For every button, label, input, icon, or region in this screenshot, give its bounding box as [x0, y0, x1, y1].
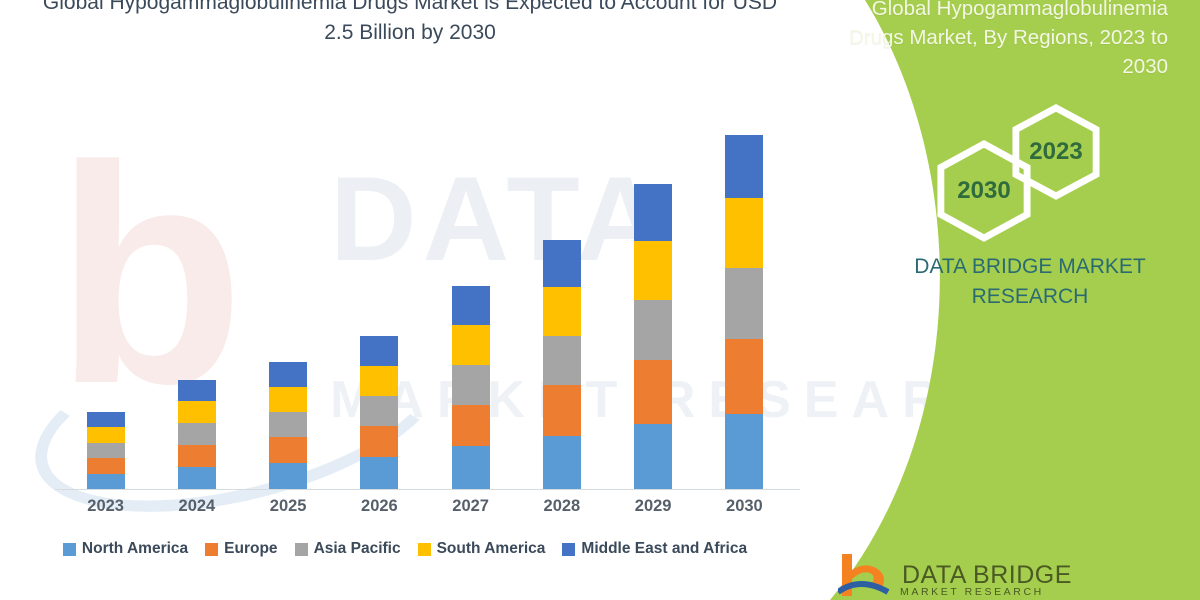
bar-segment[interactable] — [360, 396, 398, 426]
bar-group[interactable] — [87, 412, 125, 490]
bar-segment[interactable] — [725, 198, 763, 268]
bar-segment[interactable] — [725, 135, 763, 198]
bar-segment[interactable] — [178, 380, 216, 401]
hexagon-badge-start-year: 2023 — [1010, 104, 1102, 200]
bar-segment[interactable] — [543, 240, 581, 287]
x-axis-labels: 20232024202520262027202820292030 — [60, 497, 790, 523]
bar-segment[interactable] — [269, 463, 307, 490]
bar-segment[interactable] — [360, 426, 398, 457]
bar-segment[interactable] — [360, 457, 398, 490]
bar-segment[interactable] — [543, 436, 581, 490]
bar-segment[interactable] — [543, 287, 581, 336]
bar-segment[interactable] — [178, 401, 216, 423]
bar-segment[interactable] — [269, 362, 307, 387]
legend-item[interactable]: South America — [418, 540, 546, 558]
bar-segment[interactable] — [452, 446, 490, 490]
legend-swatch-icon — [205, 543, 218, 556]
bar-segment[interactable] — [87, 427, 125, 443]
legend-swatch-icon — [562, 543, 575, 556]
x-axis-label: 2026 — [339, 497, 419, 516]
bar-segment[interactable] — [269, 412, 307, 437]
bar-segment[interactable] — [87, 458, 125, 474]
x-axis-label: 2029 — [613, 497, 693, 516]
x-axis-label: 2027 — [431, 497, 511, 516]
legend-item[interactable]: Middle East and Africa — [562, 540, 747, 558]
chart-container: Global Hypogammaglobulinemia Drugs Marke… — [0, 0, 810, 600]
legend-label: Asia Pacific — [314, 540, 401, 558]
bar-segment[interactable] — [634, 360, 672, 424]
bar-segment[interactable] — [360, 366, 398, 396]
bar-group[interactable] — [725, 135, 763, 490]
bar-group[interactable] — [178, 380, 216, 490]
bar-segment[interactable] — [452, 325, 490, 365]
bar-segment[interactable] — [725, 339, 763, 414]
bar-segment[interactable] — [634, 184, 672, 241]
legend-item[interactable]: Asia Pacific — [295, 540, 401, 558]
bar-segment[interactable] — [725, 414, 763, 490]
x-axis-label: 2030 — [704, 497, 784, 516]
bar-segment[interactable] — [87, 412, 125, 427]
panel-title: Global Hypogammaglobulinemia Drugs Marke… — [838, 0, 1168, 81]
chart-title: Global Hypogammaglobulinemia Drugs Marke… — [40, 0, 780, 49]
legend-item[interactable]: Europe — [205, 540, 277, 558]
chart-legend: North AmericaEuropeAsia PacificSouth Ame… — [0, 540, 810, 558]
x-axis-label: 2024 — [157, 497, 237, 516]
bar-segment[interactable] — [360, 336, 398, 366]
bar-group[interactable] — [452, 286, 490, 490]
bar-group[interactable] — [634, 184, 672, 490]
legend-label: Europe — [224, 540, 277, 558]
bar-segment[interactable] — [87, 443, 125, 458]
bar-segment[interactable] — [178, 467, 216, 490]
bar-segment[interactable] — [452, 286, 490, 325]
brand-name: DATA BRIDGE MARKET RESEARCH — [880, 252, 1180, 313]
bar-group[interactable] — [269, 362, 307, 490]
legend-label: South America — [437, 540, 546, 558]
x-axis-label: 2025 — [248, 497, 328, 516]
bar-segment[interactable] — [269, 437, 307, 463]
legend-label: North America — [82, 540, 188, 558]
bar-segment[interactable] — [178, 445, 216, 467]
legend-swatch-icon — [418, 543, 431, 556]
bar-segment[interactable] — [178, 423, 216, 445]
x-axis-label: 2028 — [522, 497, 602, 516]
bar-segment[interactable] — [725, 268, 763, 339]
bar-segment[interactable] — [269, 387, 307, 412]
legend-label: Middle East and Africa — [581, 540, 747, 558]
bar-segment[interactable] — [634, 424, 672, 490]
stacked-bar-plot — [60, 100, 790, 490]
bar-segment[interactable] — [634, 300, 672, 360]
x-axis-line — [55, 489, 800, 490]
hexagon-start-year-label: 2023 — [1029, 138, 1082, 166]
legend-item[interactable]: North America — [63, 540, 188, 558]
bar-group[interactable] — [543, 240, 581, 490]
legend-swatch-icon — [63, 543, 76, 556]
bar-segment[interactable] — [543, 385, 581, 436]
bar-segment[interactable] — [87, 474, 125, 490]
logo-subtext: MARKET RESEARCH — [900, 586, 1044, 598]
bar-segment[interactable] — [452, 365, 490, 405]
x-axis-label: 2023 — [66, 497, 146, 516]
hexagon-end-year-label: 2030 — [957, 177, 1010, 205]
bar-segment[interactable] — [543, 336, 581, 385]
bar-segment[interactable] — [452, 405, 490, 446]
bar-segment[interactable] — [634, 241, 672, 300]
legend-swatch-icon — [295, 543, 308, 556]
bar-group[interactable] — [360, 336, 398, 490]
logo-b-mark-icon — [838, 552, 892, 598]
